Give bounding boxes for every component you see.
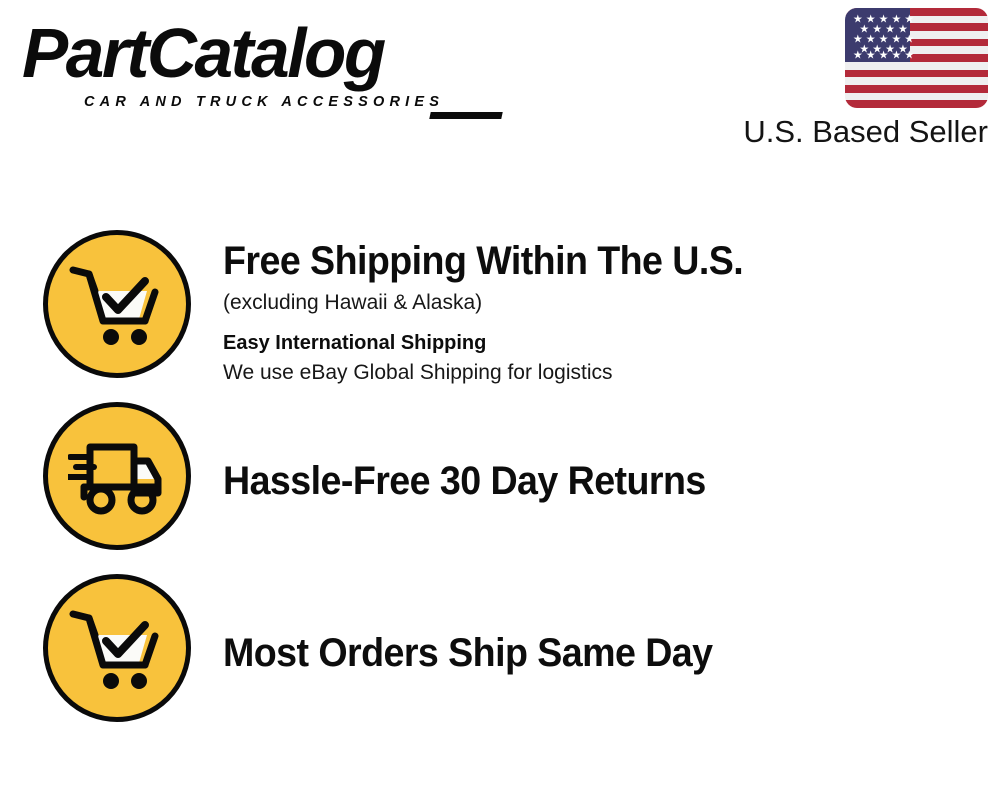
feature-title: Hassle-Free 30 Day Returns [223,458,953,504]
feature-row: Free Shipping Within The U.S. (excluding… [0,230,1000,402]
flag-stripe [845,100,988,108]
brand-wordmark: PartCatalog [22,16,487,90]
flag-stripe [845,62,988,70]
feature-title: Free Shipping Within The U.S. [223,238,953,284]
us-flag-icon: ★ ★ ★ ★ ★ ★ ★ ★ ★ ★ ★ ★ ★ ★ ★ ★ ★ ★ ★ ★ … [845,8,988,108]
flag-star: ★ [879,50,889,61]
flag-stripe [845,93,988,101]
flag-stripe [845,85,988,93]
feature-text-block: Hassle-Free 30 Day Returns [191,402,1000,504]
feature-row: Hassle-Free 30 Day Returns [0,402,1000,574]
brand-logo[interactable]: PartCatalog CAR AND TRUCK ACCESSORIES [22,16,492,116]
shopping-cart-check-icon [43,574,191,722]
us-based-seller-label: U.S. Based Seller [698,114,988,150]
flag-stripe [845,77,988,85]
feature-text-block: Free Shipping Within The U.S. (excluding… [191,230,1000,388]
delivery-truck-icon [43,402,191,550]
feature-row: Most Orders Ship Same Day [0,574,1000,746]
feature-list: Free Shipping Within The U.S. (excluding… [0,230,1000,746]
brand-underline-swoosh [429,112,502,119]
flag-star: ★ [892,50,902,61]
feature-note: We use eBay Global Shipping for logistic… [223,358,1000,388]
feature-text-block: Most Orders Ship Same Day [191,574,1000,676]
feature-title: Most Orders Ship Same Day [223,630,953,676]
flag-star: ★ [853,50,863,61]
feature-strong-line: Easy International Shipping [223,328,1000,358]
page-header: PartCatalog CAR AND TRUCK ACCESSORIES ★ … [0,0,1000,170]
shopping-cart-check-icon [43,230,191,378]
flag-stripe [845,70,988,78]
flag-star: ★ [866,50,876,61]
flag-star: ★ [904,50,914,61]
us-based-seller-block: ★ ★ ★ ★ ★ ★ ★ ★ ★ ★ ★ ★ ★ ★ ★ ★ ★ ★ ★ ★ … [698,8,988,150]
brand-tagline: CAR AND TRUCK ACCESSORIES [84,94,444,110]
feature-subtitle: (excluding Hawaii & Alaska) [223,288,1000,318]
